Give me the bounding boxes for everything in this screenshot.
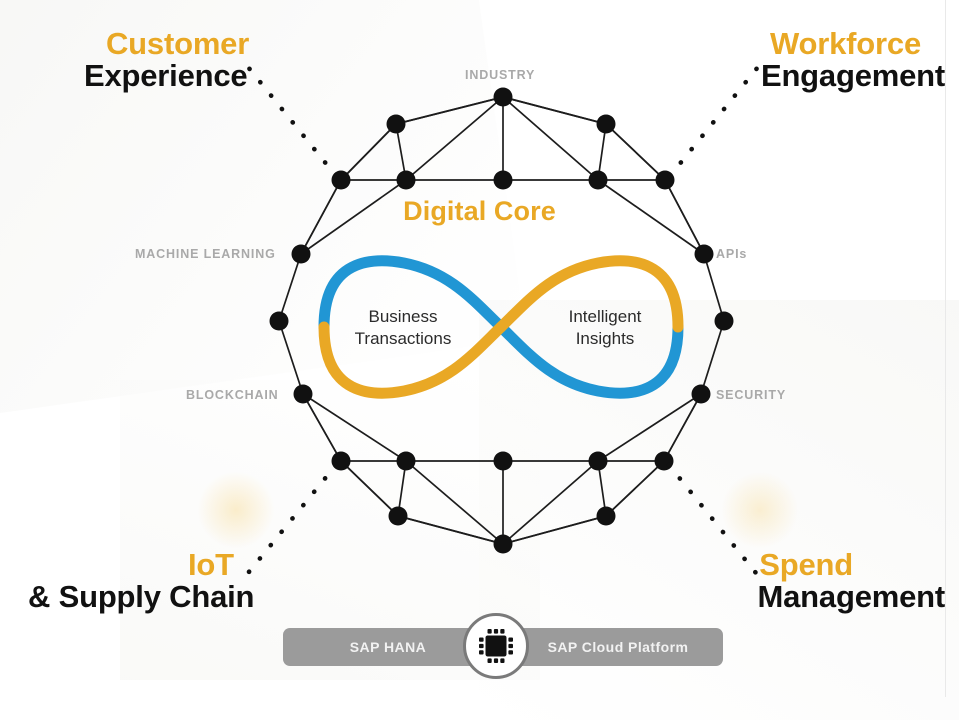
diagram-canvas: Digital Core Business Transactions Intel… [0,0,959,697]
corner-line1: Spend [758,549,853,581]
corner-line1: Workforce [761,28,921,60]
loop-label-line2: Insights [576,329,635,348]
corner-line2: Management [758,581,945,613]
corner-label-workforce-engagement: Workforce Engagement [761,28,945,92]
dotted-connector-bottom-left [244,465,336,578]
ring-label-blockchain: BLOCKCHAIN [186,388,279,402]
platform-label-sap-hana: SAP HANA [283,628,493,666]
ring-label-apis: APIs [716,247,747,261]
dotted-connector-top-left [244,62,336,176]
microchip-badge [463,613,529,679]
corner-line1: IoT [188,549,254,581]
microchip-icon [474,624,518,668]
dotted-connector-bottom-right [669,465,760,578]
corner-line2: & Supply Chain [28,581,254,613]
corner-label-customer-experience: Customer Experience [84,28,249,92]
ring-label-machine-learning: MACHINE LEARNING [135,247,276,261]
platform-label-sap-cloud-platform: SAP Cloud Platform [513,628,723,666]
corner-line1: Customer [106,28,249,60]
loop-label-line1: Intelligent [569,307,642,326]
corner-label-iot-supply-chain: IoT & Supply Chain [28,549,254,613]
loop-label-intelligent-insights: Intelligent Insights [520,306,690,350]
digital-core-title: Digital Core [0,196,959,227]
corner-line2: Engagement [761,60,945,92]
loop-label-business-transactions: Business Transactions [318,306,488,350]
corner-label-spend-management: Spend Management [758,549,945,613]
ring-label-industry: INDUSTRY [465,68,535,82]
loop-label-line2: Transactions [355,329,452,348]
loop-label-line1: Business [369,307,438,326]
dotted-connector-top-right [670,62,762,176]
ring-label-security: SECURITY [716,388,786,402]
corner-line2: Experience [84,60,249,92]
